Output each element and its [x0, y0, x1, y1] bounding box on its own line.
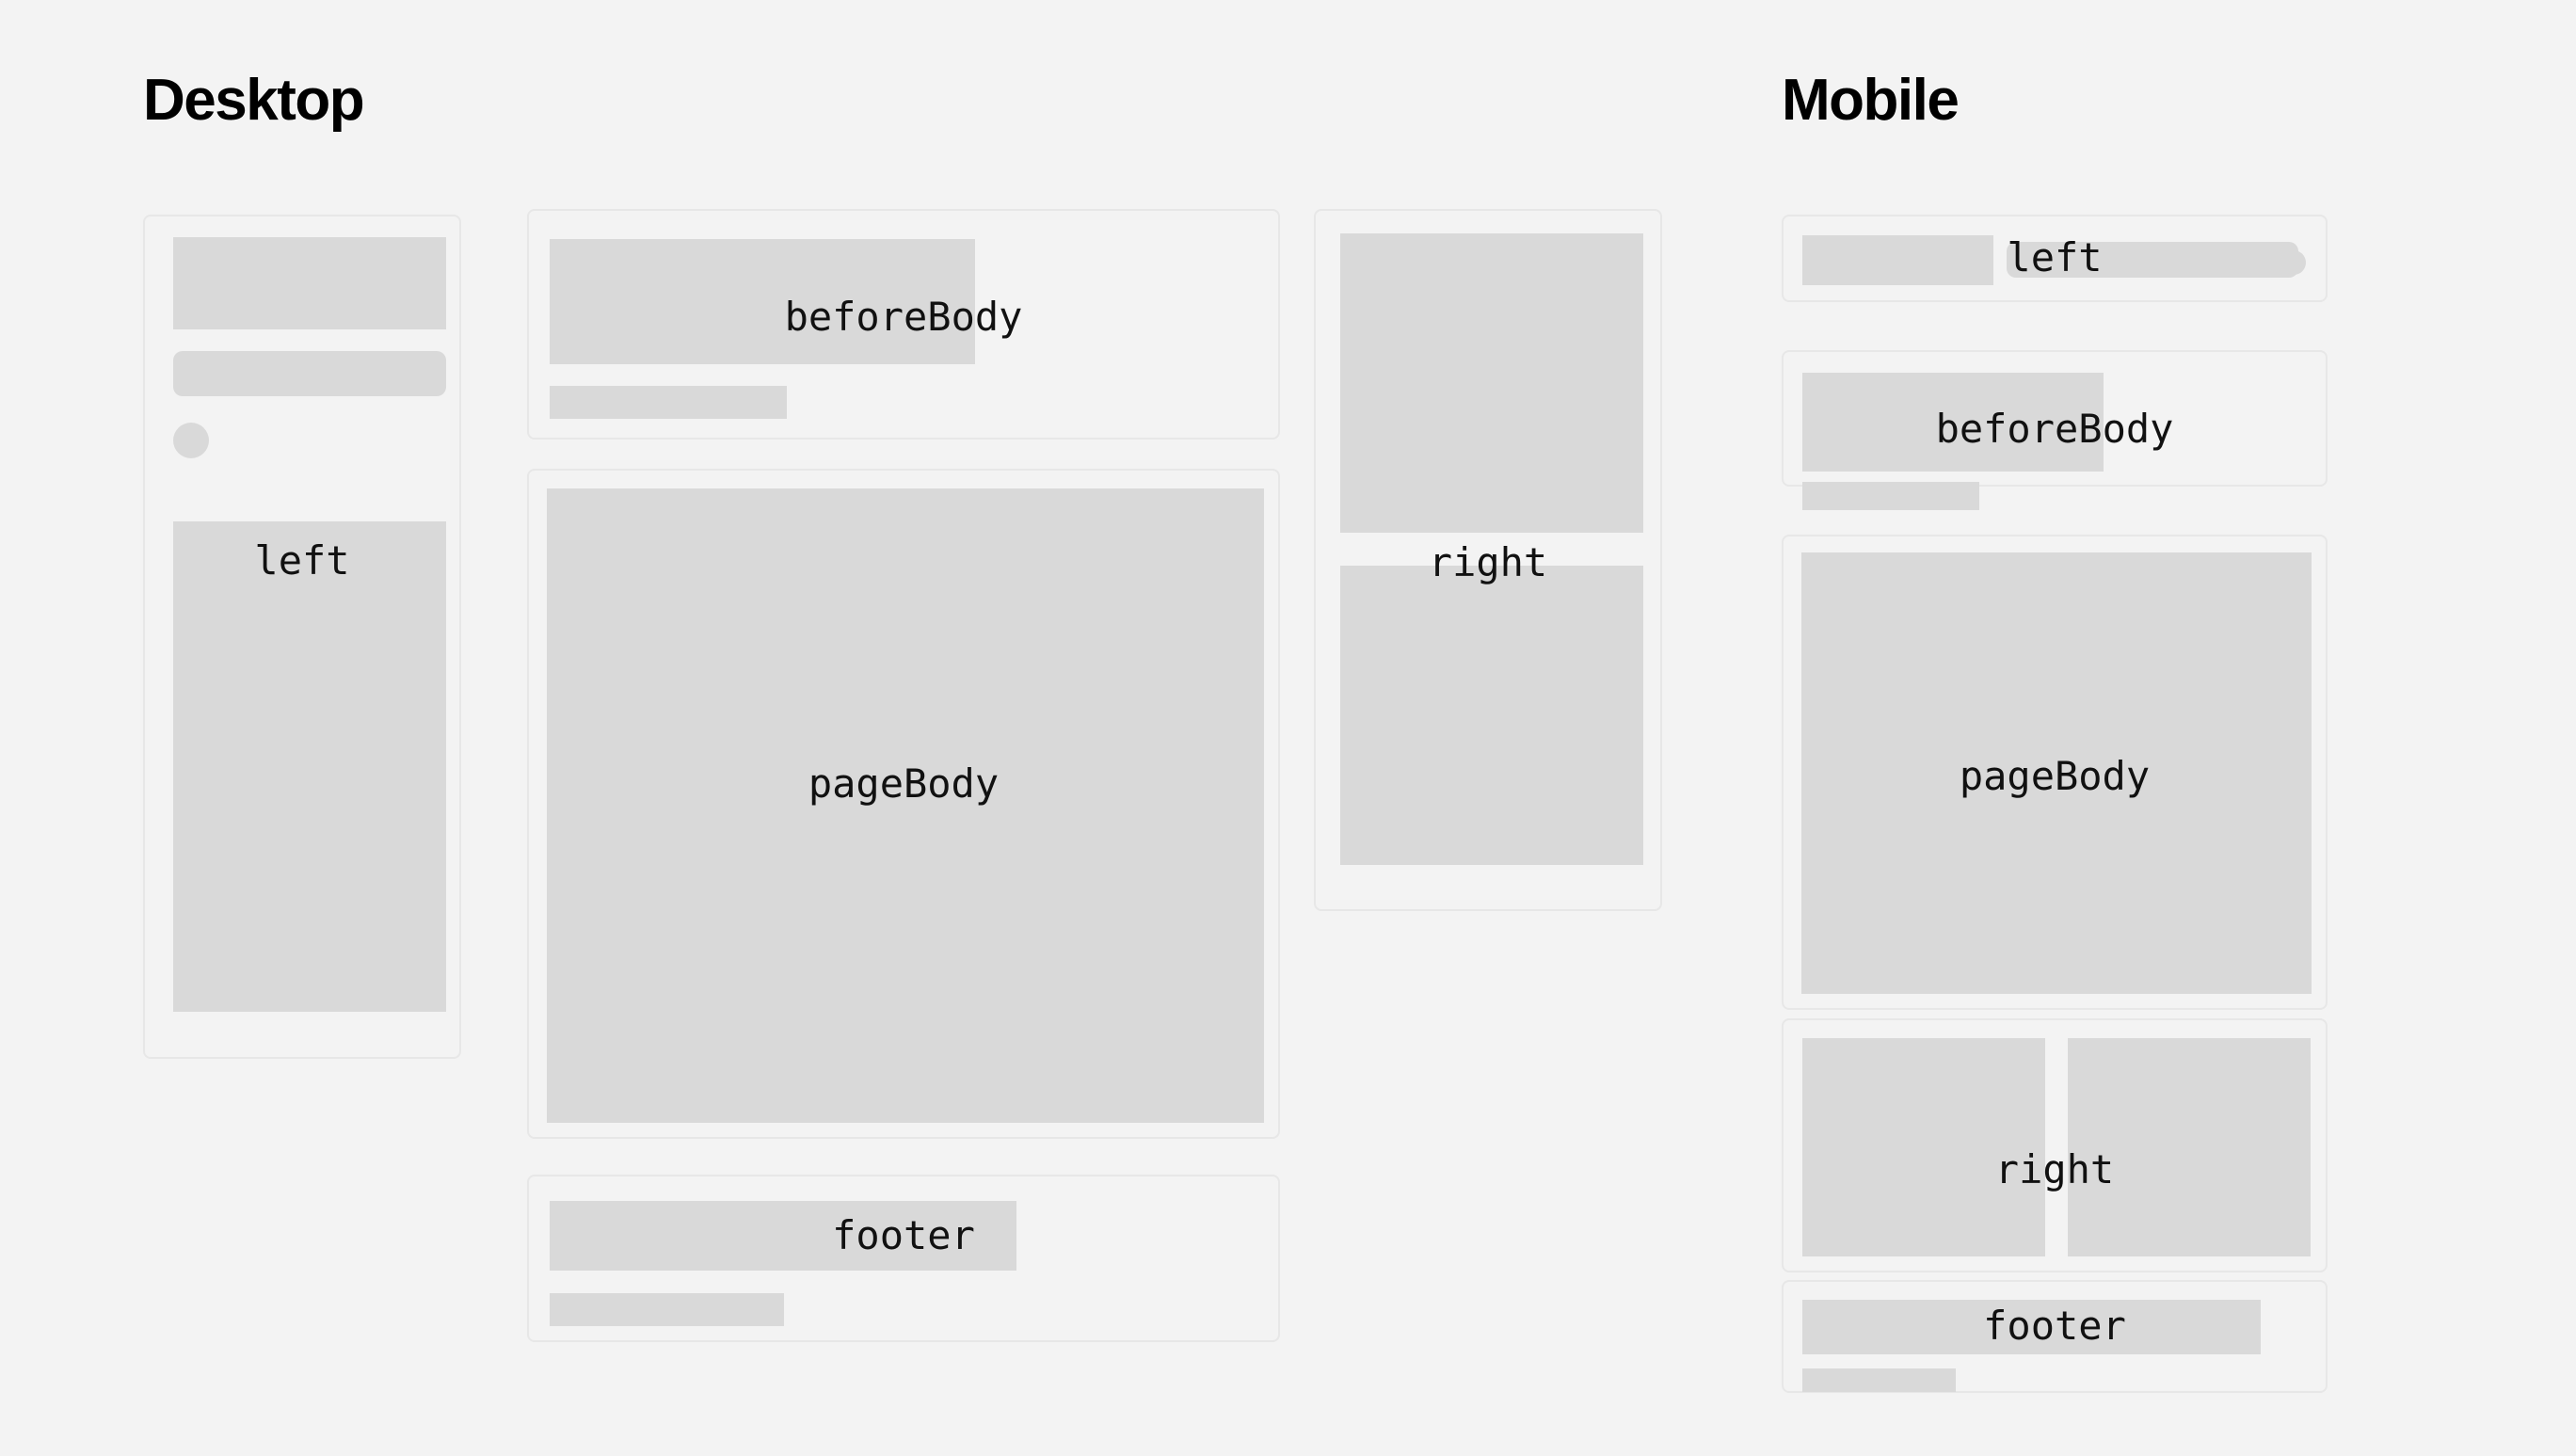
desktop-pagebody-panel[interactable]: [527, 469, 1280, 1139]
mobile-left-avatar-circle: [2281, 250, 2306, 275]
desktop-footer-panel[interactable]: [527, 1175, 1280, 1342]
desktop-left-block-2: [173, 351, 446, 396]
mobile-pagebody-panel[interactable]: [1782, 535, 2328, 1010]
column-title-desktop: Desktop: [143, 72, 363, 130]
wireframe-stage: Desktop Mobile left beforeBody pageBody …: [0, 0, 2576, 1456]
desktop-left-block-3: [173, 521, 446, 1012]
desktop-beforebody-block-1: [550, 239, 975, 364]
mobile-right-panel[interactable]: [1782, 1018, 2328, 1272]
mobile-left-panel[interactable]: [1782, 215, 2328, 302]
desktop-beforebody-panel[interactable]: [527, 209, 1280, 440]
desktop-footer-block-2: [550, 1293, 784, 1326]
desktop-left-avatar-circle: [173, 423, 209, 458]
desktop-beforebody-block-2: [550, 386, 787, 419]
mobile-right-block-1: [1802, 1038, 2045, 1256]
mobile-beforebody-block-1: [1802, 373, 2104, 472]
mobile-beforebody-block-2: [1802, 482, 1979, 510]
desktop-right-block-2: [1340, 566, 1643, 865]
mobile-footer-block-1: [1802, 1300, 2261, 1354]
column-title-mobile: Mobile: [1782, 72, 1958, 130]
desktop-footer-block-1: [550, 1201, 1016, 1271]
mobile-footer-block-2: [1802, 1368, 1956, 1392]
mobile-pagebody-block-1: [1801, 552, 2312, 994]
mobile-footer-panel[interactable]: [1782, 1280, 2328, 1393]
desktop-right-panel[interactable]: [1314, 209, 1662, 911]
desktop-right-block-1: [1340, 233, 1643, 533]
mobile-beforebody-panel[interactable]: [1782, 350, 2328, 487]
desktop-left-panel[interactable]: [143, 215, 461, 1059]
desktop-pagebody-block-1: [547, 488, 1264, 1123]
desktop-left-block-1: [173, 237, 446, 329]
mobile-right-block-2: [2068, 1038, 2311, 1256]
mobile-left-block-2: [2007, 242, 2298, 278]
mobile-left-block-1: [1802, 235, 1993, 285]
